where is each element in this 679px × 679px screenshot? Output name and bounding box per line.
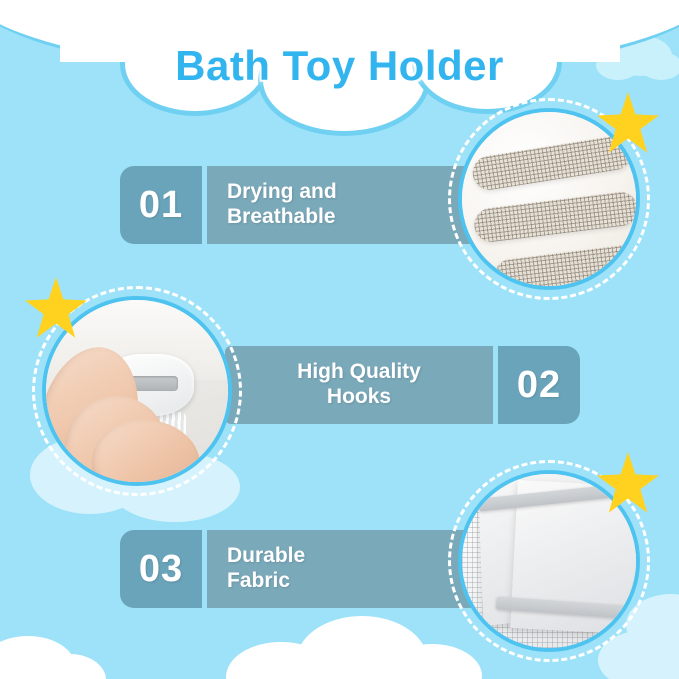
photo-content: [462, 474, 636, 648]
feature-label-bar: Durable Fabric: [207, 530, 480, 608]
feature-label-text: Durable Fabric: [227, 544, 305, 594]
cloud-icon: [34, 654, 106, 679]
feature-number-badge: 03: [120, 530, 202, 608]
page-title: Bath Toy Holder: [0, 42, 679, 90]
feature-number-badge: 01: [120, 166, 202, 244]
cloud-icon: [296, 616, 428, 679]
feature-label-bar: Drying and Breathable: [207, 166, 480, 244]
cloud-icon: [226, 642, 336, 679]
feature-label-line1: Durable: [227, 544, 305, 567]
cloud-icon: [0, 636, 76, 679]
feature-label-bar: High Quality Hooks: [225, 346, 493, 424]
feature-row: 03 Durable Fabric: [120, 530, 480, 608]
feature-label-line2: Breathable: [227, 205, 336, 228]
cloud-icon: [382, 644, 482, 679]
feature-row: 01 Drying and Breathable: [120, 166, 480, 244]
photo-content: [462, 112, 636, 286]
product-infographic: Bath Toy Holder 01 Drying and Breathable…: [0, 0, 679, 679]
feature-label-line2: Fabric: [227, 569, 290, 592]
feature-label-text: High Quality Hooks: [297, 360, 421, 410]
mesh-netting-photo: [458, 108, 640, 290]
feature-label-line2: Hooks: [327, 385, 391, 408]
feature-label-line1: High Quality: [297, 360, 421, 383]
mesh-fabric-photo: [458, 470, 640, 652]
feature-row: High Quality Hooks 02: [225, 346, 580, 424]
photo-content: [46, 300, 228, 482]
feature-number-badge: 02: [498, 346, 580, 424]
feature-label-text: Drying and Breathable: [227, 180, 337, 230]
feature-label-line1: Drying and: [227, 180, 337, 203]
